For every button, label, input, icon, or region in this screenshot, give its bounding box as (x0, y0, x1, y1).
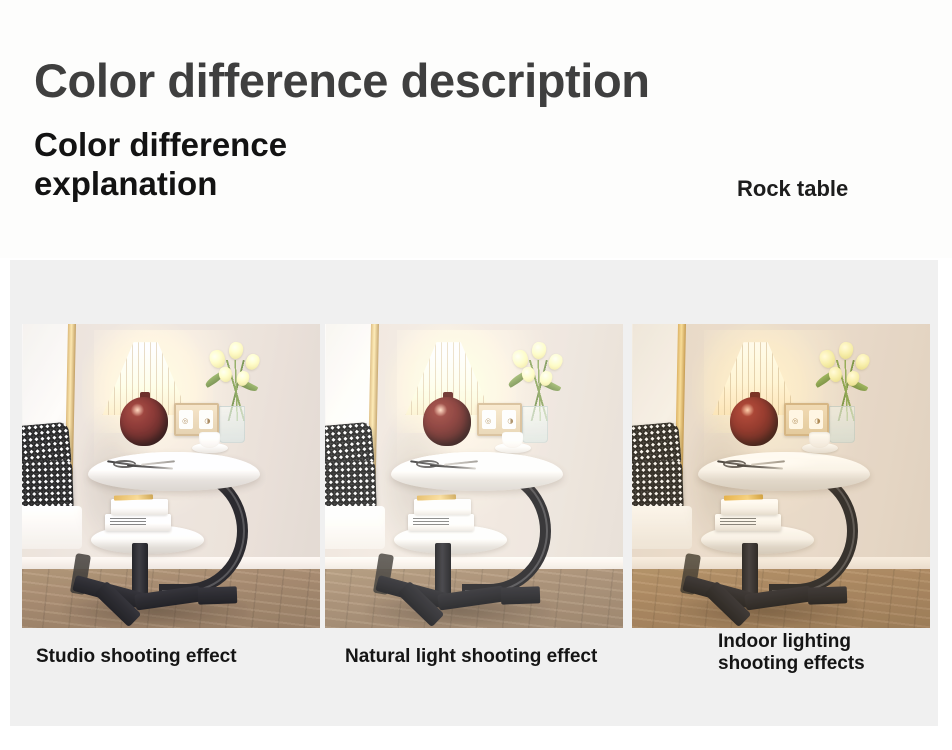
table-center-column (132, 543, 147, 598)
picture-frame-art: ◎◑ (784, 409, 829, 433)
product-photo[interactable]: ◎◑ (22, 324, 320, 628)
pen (737, 465, 784, 471)
page-subtitle: Color difference explanation (34, 126, 434, 203)
shelf-box-label (413, 518, 449, 525)
tabletop-accessories (715, 458, 804, 473)
table-arm-foot (198, 586, 237, 604)
page-header: Color difference description Color diffe… (0, 0, 952, 258)
pen (127, 465, 174, 471)
tabletop-accessories (105, 458, 194, 473)
pen (141, 460, 175, 466)
shelf-box-label (110, 518, 146, 525)
photo-caption: Indoor lighting shooting effects (718, 631, 930, 676)
photo-caption: Natural light shooting effect (345, 646, 623, 668)
vase-highlight (741, 403, 754, 417)
gallery-row: ◎◑ Studio shooting effect (10, 260, 938, 726)
shelf-box (111, 499, 168, 515)
tabletop-accessories (408, 458, 497, 473)
pen (430, 465, 477, 471)
vase-highlight (434, 403, 447, 417)
gallery-item[interactable]: ◎◑ Studio shooting effect (22, 324, 320, 668)
shelf-box (721, 499, 778, 515)
pen (444, 460, 478, 466)
photo-caption: Studio shooting effect (36, 646, 320, 668)
table-center-column (742, 543, 757, 598)
room-scene-illustration: ◎◑ (22, 324, 320, 628)
glass-flower-vase (219, 406, 246, 442)
bed-mattress (632, 506, 692, 549)
red-round-vase (730, 397, 778, 446)
red-round-vase (423, 397, 471, 446)
bed-mattress (325, 506, 385, 549)
table-arm-foot (808, 586, 847, 604)
picture-frame-art: ◎◑ (477, 409, 522, 433)
pen (751, 460, 785, 466)
red-round-vase (120, 397, 168, 446)
bed-mattress (22, 506, 82, 549)
page-title: Color difference description (34, 56, 650, 105)
product-category-label: Rock table (737, 176, 848, 202)
room-scene-illustration: ◎◑ (325, 324, 623, 628)
product-photo[interactable]: ◎◑ (632, 324, 930, 628)
table-arm-foot (501, 586, 540, 604)
gallery-item[interactable]: ◎◑ Indoor lighting shooting effects (632, 324, 930, 676)
table-center-column (435, 543, 450, 598)
room-scene-illustration: ◎◑ (632, 324, 930, 628)
shelf-box (414, 499, 471, 515)
gallery-item[interactable]: ◎◑ Natural light shooting effect (325, 324, 623, 668)
picture-frame-art: ◎◑ (174, 409, 219, 433)
comparison-gallery-panel: ◎◑ Studio shooting effect (10, 260, 938, 726)
vase-highlight (131, 403, 144, 417)
product-photo[interactable]: ◎◑ (325, 324, 623, 628)
shelf-box-label (720, 518, 756, 525)
glass-flower-vase (829, 406, 856, 442)
glass-flower-vase (522, 406, 549, 442)
